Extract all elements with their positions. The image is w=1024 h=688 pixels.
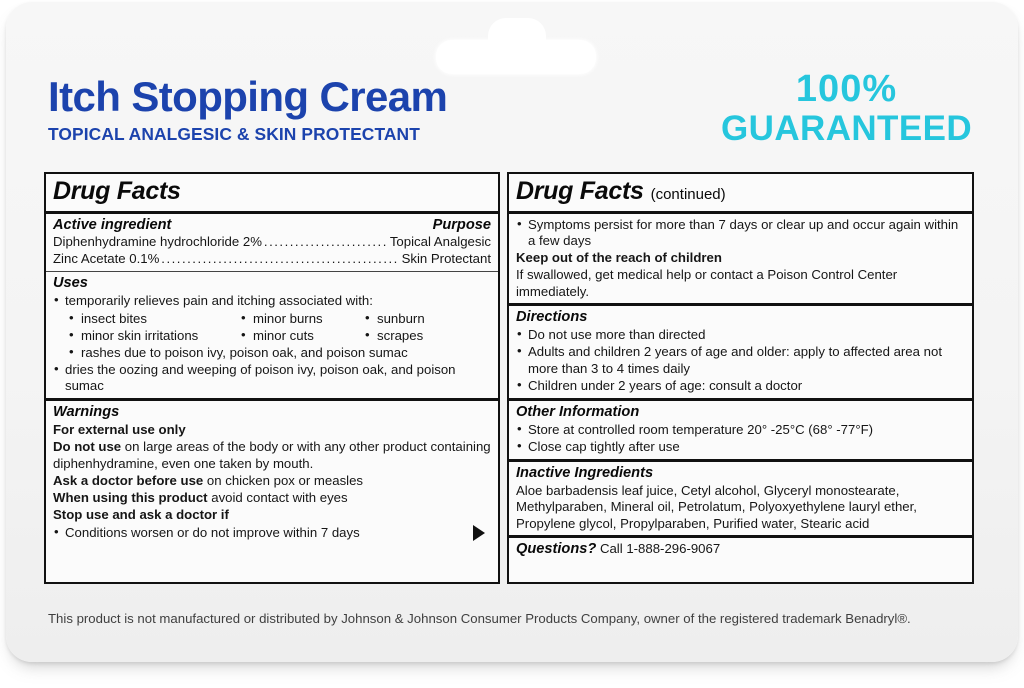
ingredient-purpose: Skin Protectant: [402, 251, 491, 268]
panel-filler: [509, 562, 972, 582]
warning-lead: Ask a doctor before use: [53, 473, 203, 488]
list-item: temporarily relieves pain and itching as…: [53, 293, 491, 310]
list-item: Conditions worsen or do not improve with…: [53, 525, 473, 542]
guarantee-percent: 100%: [721, 70, 972, 108]
brand-block: Itch Stopping Cream TOPICAL ANALGESIC & …: [48, 76, 568, 145]
warning-lead: Stop use and ask a doctor if: [53, 507, 229, 522]
trademark-disclaimer: This product is not manufactured or dist…: [48, 610, 978, 627]
list-item: sunburn: [365, 310, 491, 327]
list-item: minor burns: [241, 310, 365, 327]
other-information-heading: Other Information: [516, 403, 965, 421]
product-subtitle: TOPICAL ANALGESIC & SKIN PROTECTANT: [48, 124, 568, 145]
other-information-list: Store at controlled room temperature 20°…: [516, 422, 965, 456]
warnings-section: Warnings For external use only Do not us…: [46, 398, 498, 545]
inactive-ingredients-section: Inactive Ingredients Aloe barbadensis le…: [509, 459, 972, 535]
drug-facts-title-bar-right: Drug Facts (continued): [509, 174, 972, 214]
list-item: Close cap tightly after use: [516, 439, 965, 456]
drug-facts-panels: Drug Facts Active ingredient Purpose Dip…: [44, 172, 974, 584]
active-ingredient-section: Active ingredient Purpose Diphenhydramin…: [46, 214, 498, 271]
drug-facts-heading-continued: Drug Facts: [516, 177, 644, 206]
warning-body: on chicken pox or measles: [203, 473, 363, 488]
uses-section: Uses temporarily relieves pain and itchi…: [46, 271, 498, 399]
active-ingredient-row: Diphenhydramine hydrochloride 2% .......…: [53, 234, 491, 251]
warning-line: For external use only: [53, 422, 491, 439]
list-item: Adults and children 2 years of age and o…: [516, 344, 965, 377]
active-ingredient-heading: Active ingredient: [53, 216, 171, 234]
other-information-section: Other Information Store at controlled ro…: [509, 398, 972, 459]
uses-list-secondary: dries the oozing and weeping of poison i…: [53, 362, 491, 395]
uses-heading: Uses: [53, 274, 491, 292]
drug-facts-panel-left: Drug Facts Active ingredient Purpose Dip…: [44, 172, 500, 584]
leader-dots: ........................................…: [161, 251, 399, 268]
list-item: minor cuts: [241, 327, 365, 344]
inactive-ingredients-heading: Inactive Ingredients: [516, 464, 965, 482]
guarantee-badge: 100% GUARANTEED: [721, 70, 972, 146]
questions-label: Questions?: [516, 541, 596, 557]
list-item: minor skin irritations: [69, 327, 241, 344]
hang-slot-cutout: [436, 40, 596, 74]
warnings-bullet-list: Conditions worsen or do not improve with…: [53, 524, 473, 542]
ingredient-name: Zinc Acetate 0.1%: [53, 251, 159, 268]
questions-section: Questions? Call 1-888-296-9067: [509, 535, 972, 561]
list-item: rashes due to poison ivy, poison oak, an…: [69, 344, 491, 361]
ingredient-purpose: Topical Analgesic: [390, 234, 491, 251]
warnings-heading: Warnings: [53, 403, 491, 421]
keep-out-of-reach-heading: Keep out of the reach of children: [516, 250, 965, 267]
panel-filler: [46, 545, 498, 582]
leader-dots: ..........................: [264, 234, 388, 251]
active-ingredient-row: Zinc Acetate 0.1% ......................…: [53, 251, 491, 268]
drug-facts-heading-note: (continued): [651, 186, 726, 203]
uses-list: temporarily relieves pain and itching as…: [53, 293, 491, 310]
drug-facts-title-bar-left: Drug Facts: [46, 174, 498, 214]
warnings-continued-section: Symptoms persist for more than 7 days or…: [509, 214, 972, 303]
warning-line: When using this product avoid contact wi…: [53, 490, 491, 507]
keep-out-of-reach-text: If swallowed, get medical help or contac…: [516, 267, 965, 300]
product-package-card: Itch Stopping Cream TOPICAL ANALGESIC & …: [6, 2, 1018, 662]
page-title: Itch Stopping Cream: [48, 76, 568, 119]
right-triangle-icon: [473, 525, 485, 541]
list-item: insect bites: [69, 310, 241, 327]
questions-phone: Call 1-888-296-9067: [596, 541, 720, 556]
drug-facts-panel-right: Drug Facts (continued) Symptoms persist …: [507, 172, 974, 584]
warning-line: Do not use on large areas of the body or…: [53, 439, 491, 472]
uses-grid: insect bites minor burns sunburn minor s…: [69, 310, 491, 344]
warning-line: Ask a doctor before use on chicken pox o…: [53, 473, 491, 490]
list-item: scrapes: [365, 327, 491, 344]
warning-lead: Do not use: [53, 439, 121, 454]
warning-lead: When using this product: [53, 490, 208, 505]
guarantee-label: GUARANTEED: [721, 111, 972, 146]
list-item: Do not use more than directed: [516, 327, 965, 344]
list-item: Children under 2 years of age: consult a…: [516, 378, 965, 395]
warning-lead: For external use only: [53, 422, 186, 437]
warning-body: avoid contact with eyes: [208, 490, 348, 505]
directions-heading: Directions: [516, 308, 965, 326]
warnings-continuation-row: Conditions worsen or do not improve with…: [53, 524, 491, 542]
directions-section: Directions Do not use more than directed…: [509, 303, 972, 398]
inactive-ingredients-text: Aloe barbadensis leaf juice, Cetyl alcoh…: [516, 483, 965, 533]
list-item: Symptoms persist for more than 7 days or…: [516, 217, 965, 250]
directions-list: Do not use more than directed Adults and…: [516, 327, 965, 395]
warning-line: Stop use and ask a doctor if: [53, 507, 491, 524]
drug-facts-heading: Drug Facts: [53, 177, 181, 206]
purpose-heading: Purpose: [433, 216, 491, 234]
list-item: Store at controlled room temperature 20°…: [516, 422, 965, 439]
warnings-continued-list: Symptoms persist for more than 7 days or…: [516, 217, 965, 250]
ingredient-name: Diphenhydramine hydrochloride 2%: [53, 234, 262, 251]
list-item: dries the oozing and weeping of poison i…: [53, 362, 491, 395]
